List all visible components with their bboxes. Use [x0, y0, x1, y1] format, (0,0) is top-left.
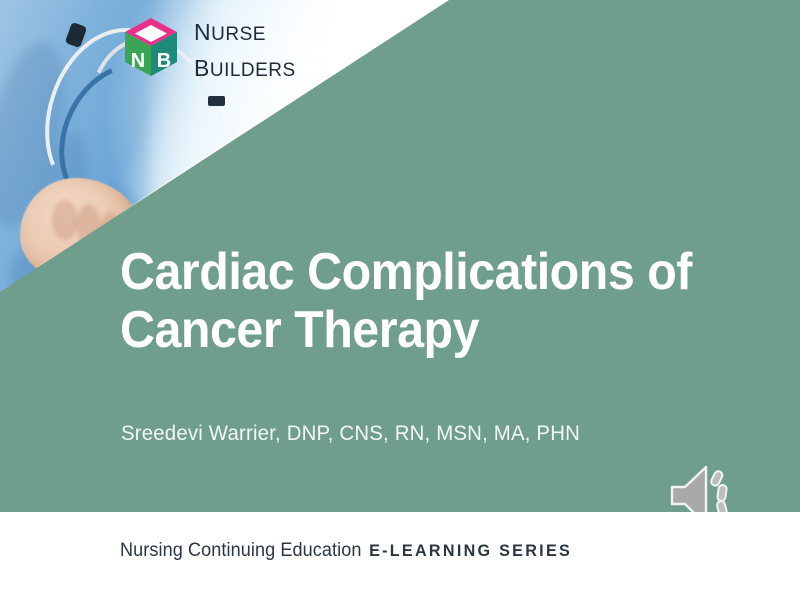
- slide-title: Cardiac Complications of Cancer Therapy: [120, 243, 715, 359]
- slide-title-line-1: Cardiac Complications of: [120, 243, 715, 301]
- brand-wordmark-line-2: Builders: [194, 48, 296, 81]
- svg-text:N: N: [131, 50, 145, 72]
- brand-wordmark: Nurse Builders: [194, 12, 296, 81]
- badge-clip: [208, 96, 225, 106]
- brand-logo: N B Nurse Builders: [122, 12, 296, 81]
- footer-lead-text: Nursing Continuing Education: [120, 540, 361, 561]
- nurse-builders-cube-icon: N B: [122, 16, 180, 78]
- brand-wordmark-line-1: Nurse: [194, 12, 296, 45]
- footer-caption: Nursing Continuing EducationE-LEARNING S…: [120, 540, 572, 562]
- knuckle: [52, 200, 78, 240]
- presentation-slide: N B Nurse Builders Cardiac Complications…: [0, 0, 800, 600]
- presenter-name: Sreedevi Warrier, DNP, CNS, RN, MSN, MA,…: [121, 422, 580, 446]
- svg-text:B: B: [157, 50, 171, 72]
- slide-title-line-2: Cancer Therapy: [120, 301, 715, 359]
- footer-series-text: E-LEARNING SERIES: [369, 541, 572, 560]
